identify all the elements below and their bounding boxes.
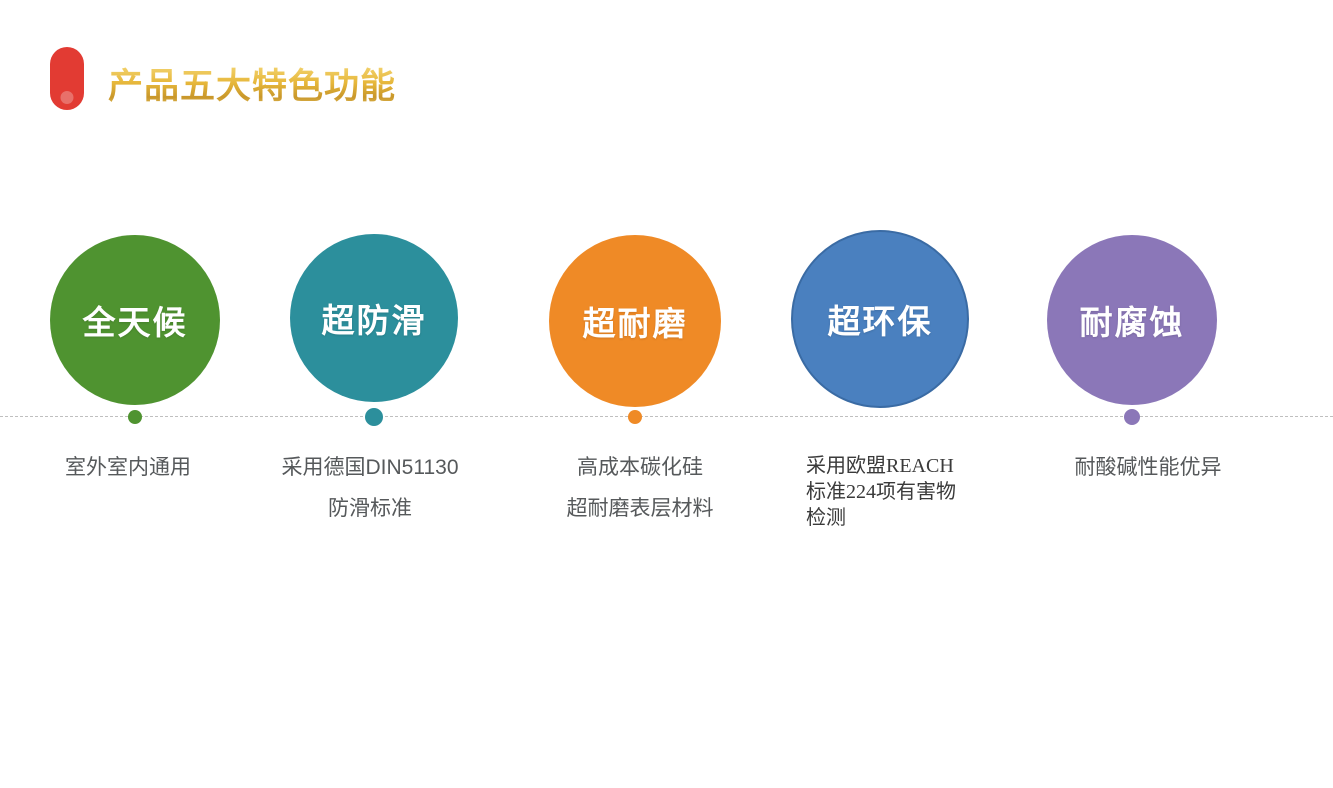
feature-4-circle[interactable]: 超环保 (791, 230, 969, 408)
feature-1-timeline-dot-icon (128, 410, 142, 424)
feature-5-label: 耐腐蚀 (1080, 296, 1185, 344)
feature-5-caption: 耐酸碱性能优异 (1075, 447, 1222, 488)
feature-2-timeline-dot-icon (365, 408, 383, 426)
feature-1-label: 全天候 (83, 296, 188, 344)
feature-2-label: 超防滑 (322, 294, 427, 342)
feature-4-caption: 采用欧盟REACH 标准224项有害物 检测 (806, 453, 956, 531)
feature-3-timeline-dot-icon (628, 410, 642, 424)
feature-3-circle[interactable]: 超耐磨 (549, 235, 721, 407)
feature-5-timeline-dot-icon (1124, 409, 1140, 425)
slide-header: 产品五大特色功能 (0, 0, 1333, 150)
feature-1-circle[interactable]: 全天候 (50, 235, 220, 405)
slide-canvas: 产品五大特色功能 全天候超防滑超耐磨超环保耐腐蚀 室外室内通用采用德国DIN51… (0, 0, 1333, 788)
feature-1-caption: 室外室内通用 (65, 447, 191, 488)
feature-3-label: 超耐磨 (583, 297, 688, 345)
feature-5-circle[interactable]: 耐腐蚀 (1047, 235, 1217, 405)
page-title: 产品五大特色功能 (108, 64, 396, 110)
feature-2-circle[interactable]: 超防滑 (290, 234, 458, 402)
feature-2-caption: 采用德国DIN51130 防滑标准 (281, 447, 458, 529)
pill-inner-dot-icon (61, 91, 74, 104)
feature-4-label: 超环保 (828, 295, 933, 343)
feature-3-caption: 高成本碳化硅 超耐磨表层材料 (567, 447, 714, 529)
red-pill-marker-icon (50, 47, 84, 110)
